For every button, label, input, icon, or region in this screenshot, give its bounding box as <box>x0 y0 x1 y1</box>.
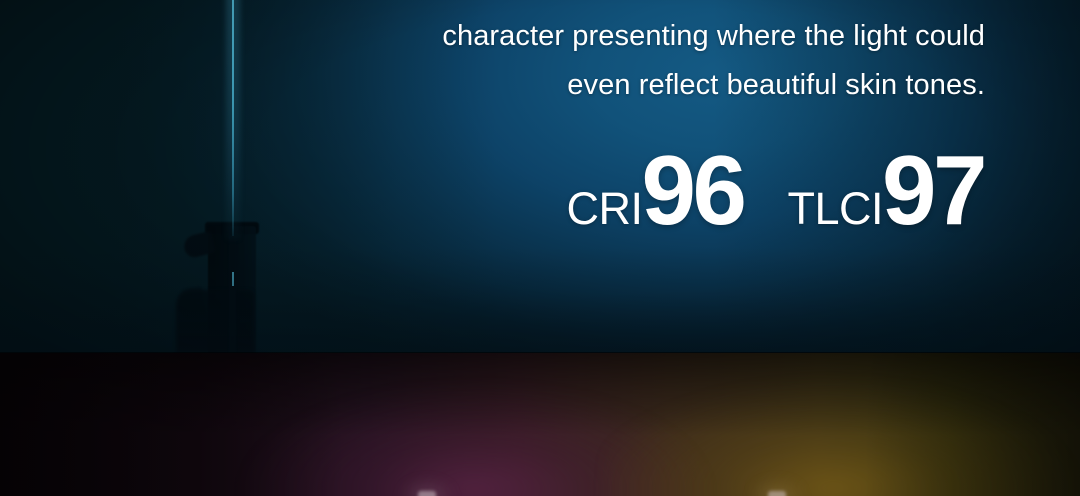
hero-copy-line-1: character presenting where the light cou… <box>385 12 985 61</box>
hero-copy-line-2: even reflect beautiful skin tones. <box>385 61 985 110</box>
warm-right-shadow <box>864 353 1080 496</box>
warm-gradient-panel <box>0 353 1080 496</box>
promo-screen: character presenting where the light cou… <box>0 0 1080 496</box>
metric-stats: CRI 96 TLCI 97 <box>566 150 984 235</box>
stat-cri-label: CRI <box>566 183 642 235</box>
stat-tlci-value: 97 <box>882 150 984 230</box>
warm-left-shadow <box>0 353 346 496</box>
hero-copy: character presenting where the light cou… <box>385 12 985 110</box>
bottom-bloom-left <box>418 491 436 496</box>
stat-cri-value: 96 <box>641 150 743 230</box>
bottom-bloom-right <box>768 491 786 496</box>
hero-bottom-falloff <box>0 247 1080 353</box>
stat-tlci-label: TLCI <box>787 183 883 235</box>
stat-cri: CRI 96 <box>566 150 743 235</box>
stat-tlci: TLCI 97 <box>787 150 984 235</box>
hero-panel: character presenting where the light cou… <box>0 0 1080 353</box>
